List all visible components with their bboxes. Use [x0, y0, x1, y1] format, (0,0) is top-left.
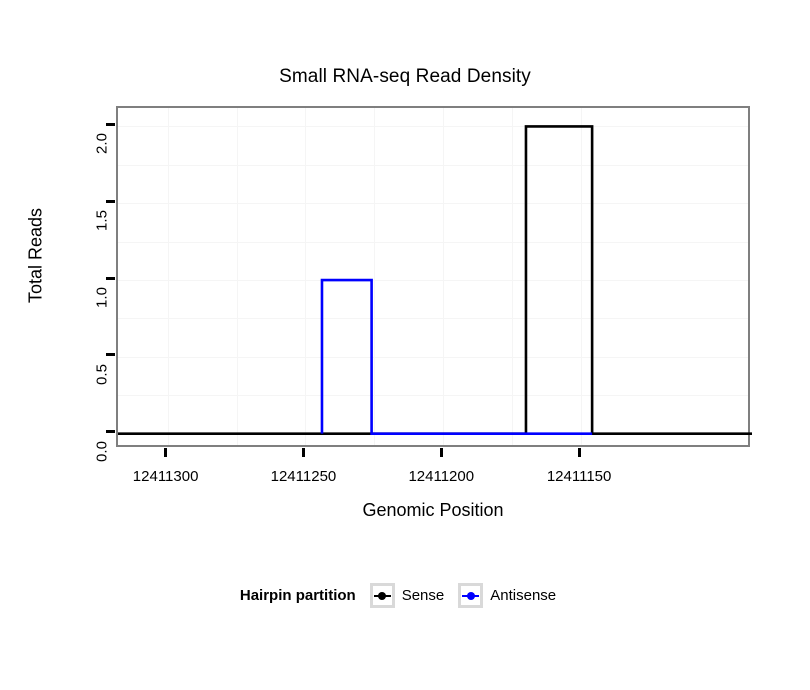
y-axis-ticklabel: 1.0: [94, 278, 111, 318]
x-axis-tick: [302, 448, 305, 457]
chart-legend: Hairpin partition SenseAntisense: [0, 583, 810, 608]
legend-entry-antisense[interactable]: Antisense: [458, 583, 570, 608]
legend-label: Antisense: [490, 587, 556, 604]
legend-label: Sense: [402, 587, 445, 604]
series-layer: [118, 108, 752, 449]
x-axis-title: Genomic Position: [116, 500, 750, 521]
chart-figure: Small RNA-seq Read Density Total Reads 0…: [0, 0, 810, 690]
y-axis-ticklabel: 0.0: [94, 431, 111, 471]
legend-title: Hairpin partition: [240, 587, 356, 604]
x-axis-ticklabel: 12411200: [408, 468, 474, 485]
y-axis-ticklabel: 0.5: [94, 354, 111, 394]
plot-panel: [116, 106, 750, 447]
x-axis-ticklabel: 12411250: [271, 468, 337, 485]
y-axis-ticklabel: 1.5: [94, 201, 111, 241]
x-axis-ticklabel: 12411150: [547, 468, 612, 485]
legend-key-sense: [370, 583, 395, 608]
x-axis-tick: [578, 448, 581, 457]
legend-key-dot: [378, 592, 386, 600]
series-line-sense: [118, 126, 752, 433]
x-axis-tick: [164, 448, 167, 457]
legend-key-dot: [467, 592, 475, 600]
y-axis-ticklabel: 2.0: [94, 124, 111, 164]
legend-key-antisense: [458, 583, 483, 608]
series-line-antisense: [322, 280, 592, 434]
x-axis-ticklabel: 12411300: [133, 468, 199, 485]
chart-title: Small RNA-seq Read Density: [0, 66, 810, 88]
x-axis-tick: [440, 448, 443, 457]
y-axis-title: Total Reads: [26, 176, 47, 336]
legend-entry-sense[interactable]: Sense: [370, 583, 459, 608]
